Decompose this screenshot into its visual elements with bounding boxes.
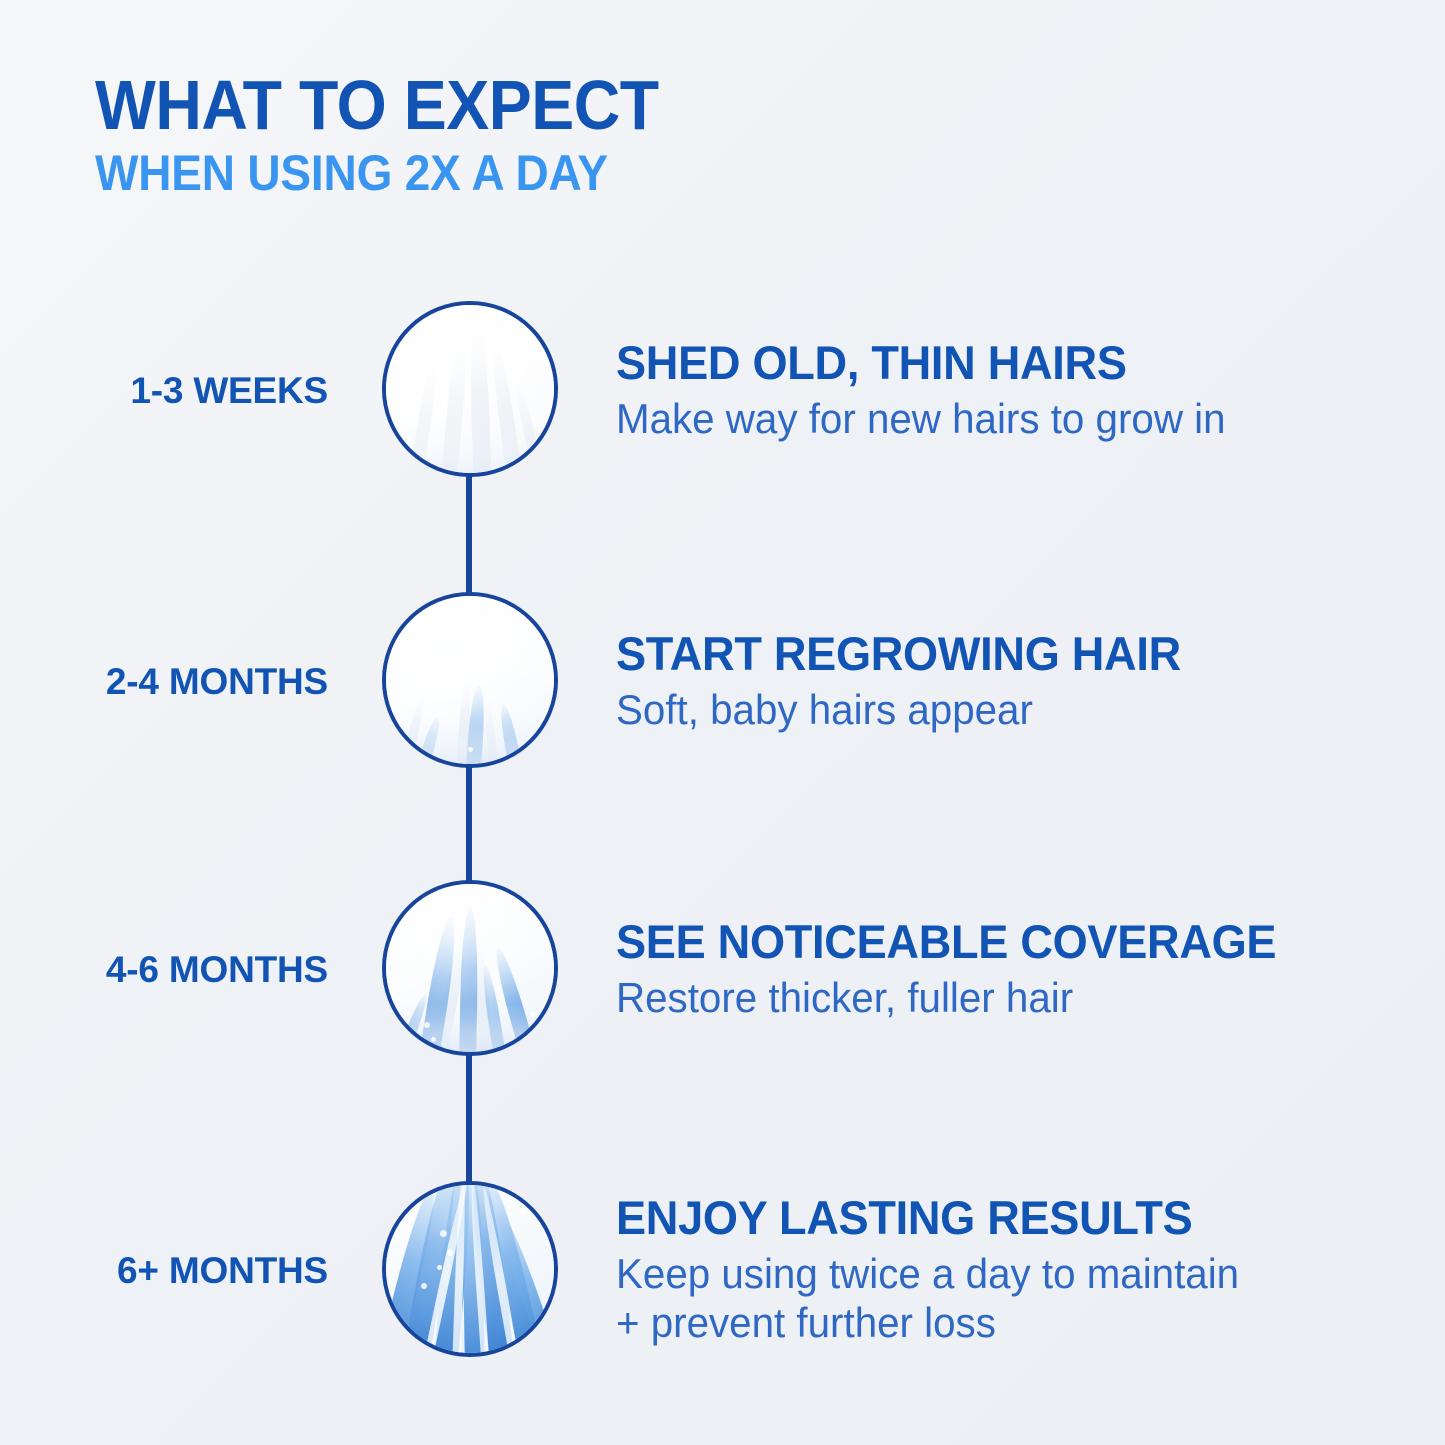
timeline-step-4: 6+ MONTHS	[0, 1181, 1445, 1361]
timeline: 1-3 WEEKS SHED OLD, THIN HAIRS Ma	[0, 0, 1445, 1445]
step-4-body-line-2: + prevent further loss	[616, 1298, 1346, 1348]
timeline-step-1: 1-3 WEEKS SHED OLD, THIN HAIRS Ma	[0, 301, 1445, 481]
step-4-copy: ENJOY LASTING RESULTS Keep using twice a…	[616, 1181, 1376, 1361]
step-3-heading: SEE NOTICEABLE COVERAGE	[616, 918, 1346, 967]
step-1-image-node	[382, 301, 558, 477]
timeline-step-2: 2-4 MONTHS START RE	[0, 592, 1445, 772]
step-1-heading: SHED OLD, THIN HAIRS	[616, 339, 1346, 388]
step-4-image-node	[382, 1181, 558, 1357]
infographic-poster: WHAT TO EXPECT WHEN USING 2X A DAY 1-3 W…	[0, 0, 1445, 1445]
step-4-heading: ENJOY LASTING RESULTS	[616, 1194, 1346, 1243]
step-4-time-label: 6+ MONTHS	[0, 1181, 350, 1361]
step-4-body: Keep using twice a day to maintain + pre…	[616, 1249, 1346, 1348]
step-1-time-label: 1-3 WEEKS	[0, 301, 350, 481]
timeline-step-3: 4-6 MONTHS	[0, 880, 1445, 1060]
step-1-body: Make way for new hairs to grow in	[616, 394, 1346, 444]
scalp-closeup-sparse-pale-hairs-icon	[382, 301, 558, 477]
step-2-image-node	[382, 592, 558, 768]
scalp-closeup-thicker-blue-hairs-icon	[382, 880, 558, 1056]
step-2-copy: START REGROWING HAIR Soft, baby hairs ap…	[616, 592, 1376, 772]
step-2-body-line-1: Soft, baby hairs appear	[616, 685, 1346, 735]
step-2-body: Soft, baby hairs appear	[616, 685, 1346, 735]
scalp-closeup-dense-blue-hairs-icon	[382, 1181, 558, 1357]
step-2-time-label: 2-4 MONTHS	[0, 592, 350, 772]
step-3-image-node	[382, 880, 558, 1056]
step-3-body-line-1: Restore thicker, fuller hair	[616, 973, 1346, 1023]
scalp-closeup-thin-blue-hairs-icon	[382, 592, 558, 768]
step-1-copy: SHED OLD, THIN HAIRS Make way for new ha…	[616, 301, 1376, 481]
step-3-copy: SEE NOTICEABLE COVERAGE Restore thicker,…	[616, 880, 1376, 1060]
step-3-time-label: 4-6 MONTHS	[0, 880, 350, 1060]
step-2-heading: START REGROWING HAIR	[616, 630, 1346, 679]
step-3-body: Restore thicker, fuller hair	[616, 973, 1346, 1023]
step-4-body-line-1: Keep using twice a day to maintain	[616, 1249, 1346, 1299]
step-1-body-line-1: Make way for new hairs to grow in	[616, 394, 1346, 444]
